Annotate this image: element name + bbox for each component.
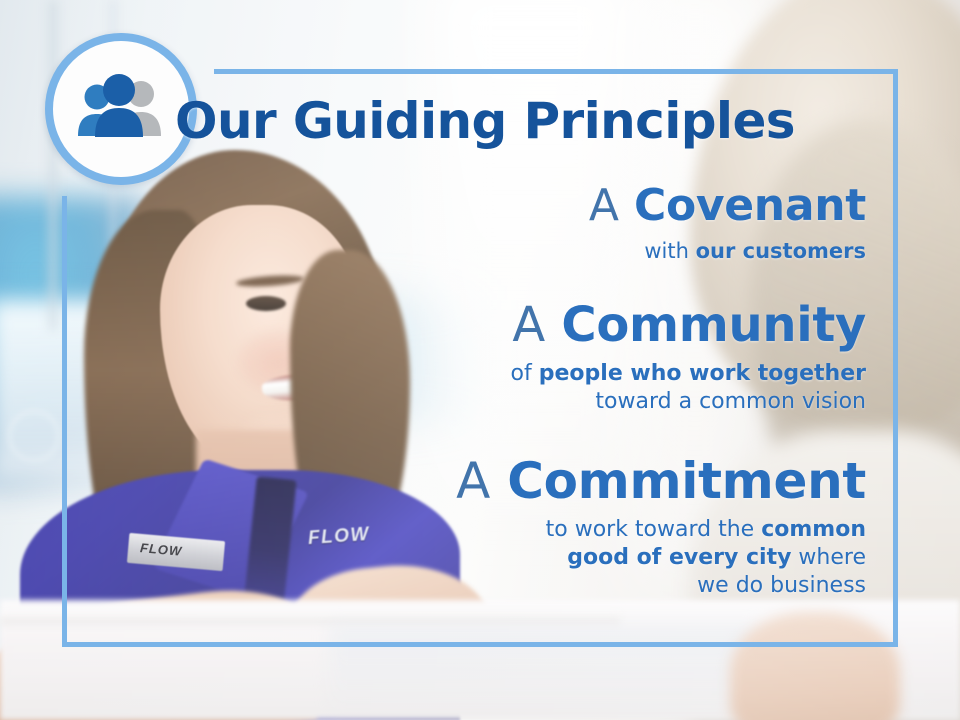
principle-commitment-word: Commitment [507, 452, 866, 510]
principle-covenant-subtitle: with our customers [90, 238, 866, 265]
frame-right-line [893, 69, 898, 647]
content-block: Our Guiding Principles A Covenant with o… [90, 72, 880, 642]
principle-commitment-sub-light-3: we do business [697, 573, 866, 598]
principle-commitment-subtitle: to work toward the common good of every … [90, 516, 866, 600]
principle-community-sub-bold-1: people who work together [539, 361, 866, 386]
principle-commitment-sub-bold-2: good of every city [567, 545, 791, 570]
guiding-principles-banner: FLOW FLOW [0, 0, 960, 720]
principle-covenant-article: A [589, 180, 634, 231]
principle-covenant-sub-bold: our customers [696, 239, 866, 263]
principle-commitment-sub-bold-1: common [761, 517, 866, 542]
principle-community: A Community of people who work together … [90, 300, 880, 416]
principle-community-word: Community [561, 297, 866, 353]
principle-community-sub-light-1: of [511, 361, 539, 386]
principle-community-article: A [512, 297, 561, 353]
principle-covenant-title: A Covenant [90, 182, 866, 230]
principle-commitment-article: A [456, 452, 507, 510]
principle-commitment-title: A Commitment [90, 454, 866, 508]
principle-community-sub-light-2: toward a common vision [595, 389, 866, 414]
principle-covenant-sub-light: with [644, 239, 695, 263]
principle-covenant-word: Covenant [634, 180, 866, 231]
frame-bottom-line [62, 642, 898, 647]
principle-commitment-sub-light-2: where [791, 545, 866, 570]
frame-left-line [62, 196, 67, 647]
page-title: Our Guiding Principles [90, 96, 880, 146]
principle-commitment: A Commitment to work toward the common g… [90, 454, 880, 600]
principle-community-title: A Community [90, 300, 866, 352]
principle-commitment-sub-light-1: to work toward the [546, 517, 762, 542]
principle-covenant: A Covenant with our customers [90, 182, 880, 264]
principle-community-subtitle: of people who work together toward a com… [90, 360, 866, 416]
